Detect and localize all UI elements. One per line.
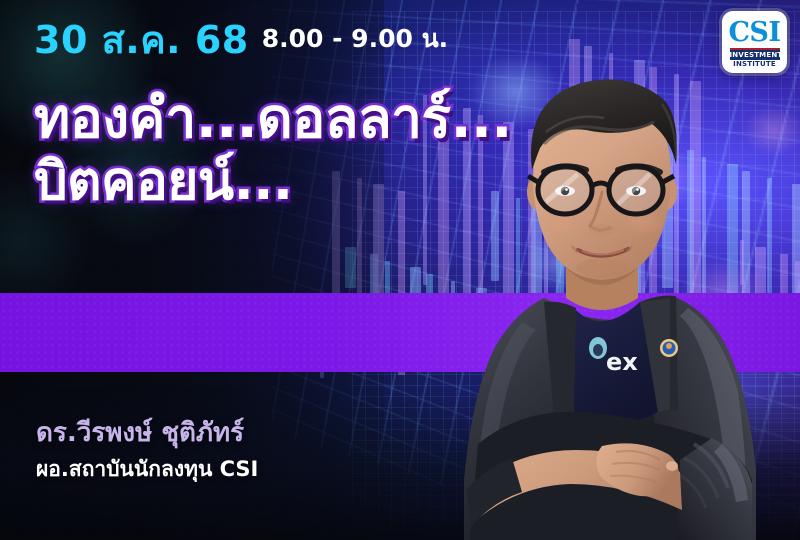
speaker-portrait-photo: ex bbox=[426, 40, 798, 540]
csi-logo-line1: INVESTMENT bbox=[730, 51, 780, 59]
speaker-name: ดร.วีรพงษ์ ชุติภัทร์ bbox=[36, 416, 476, 450]
csi-logo[interactable]: CSI INVESTMENT INSTITUTE bbox=[722, 11, 787, 73]
csi-logo-band: INVESTMENT INSTITUTE bbox=[730, 48, 780, 68]
date-time-group: 30 ส.ค. 68 8.00 - 9.00 น. bbox=[34, 0, 448, 79]
csi-logo-line2: INSTITUTE bbox=[730, 60, 780, 68]
svg-text:ex: ex bbox=[606, 348, 638, 376]
speaker-role: ผอ.สถาบันนักลงทุน CSI bbox=[36, 454, 476, 484]
event-date: 30 ส.ค. 68 bbox=[34, 21, 249, 59]
webinar-promo-poster: ex bbox=[0, 0, 800, 540]
speaker-info: ดร.วีรพงษ์ ชุติภัทร์ ผอ.สถาบันนักลงทุน C… bbox=[36, 416, 476, 484]
csi-logo-acronym: CSI bbox=[728, 19, 780, 46]
event-time: 8.00 - 9.00 น. bbox=[262, 26, 448, 53]
